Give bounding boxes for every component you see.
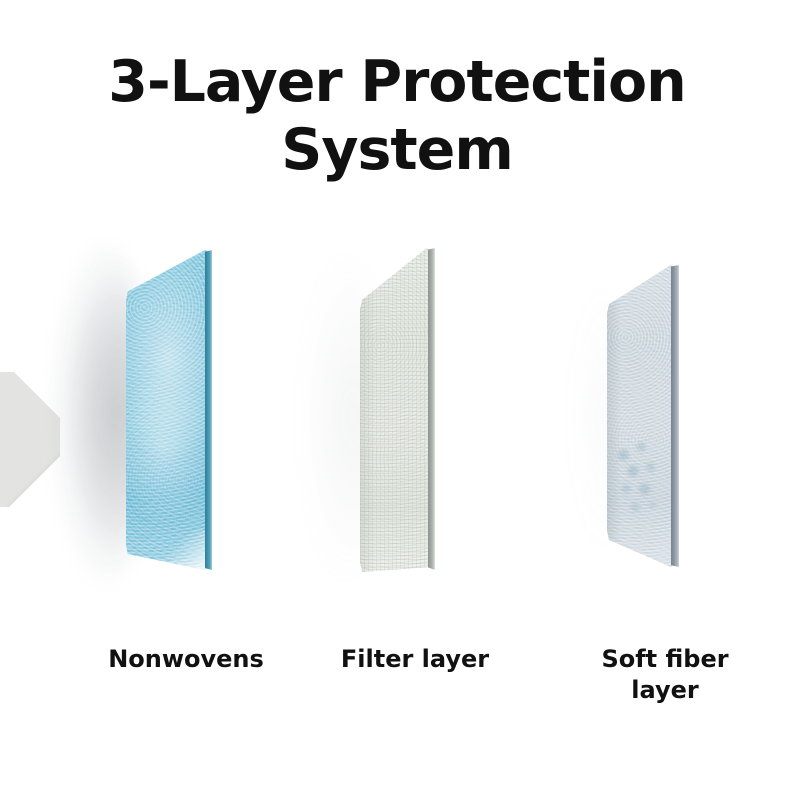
panel-shadow xyxy=(566,272,626,562)
filter-mesh-texture xyxy=(360,248,430,572)
panel-edge-soft-fiber xyxy=(671,265,679,567)
panel-edge-filter xyxy=(428,248,435,570)
infographic-canvas: 3-Layer Protection System xyxy=(0,0,794,794)
label-nonwovens-text: Nonwovens xyxy=(108,645,264,673)
label-soft-fiber-line-1: Soft fiber xyxy=(555,644,775,675)
label-soft-fiber-line-2: layer xyxy=(555,675,775,706)
panel-face-filter xyxy=(360,248,430,572)
panel-left-shade xyxy=(607,265,621,567)
title-line-1: 3-Layer Protection xyxy=(0,48,794,116)
nonwoven-texture xyxy=(126,250,210,570)
page-title: 3-Layer Protection System xyxy=(0,48,794,184)
soft-fiber-texture xyxy=(607,265,674,567)
panel-corner-highlight xyxy=(164,530,210,570)
panel-edge-nonwovens xyxy=(205,250,212,570)
panel-shadow-inner xyxy=(72,262,150,564)
panel-left-shade xyxy=(360,248,376,572)
fiber-dot-cluster xyxy=(611,437,669,537)
label-filter-layer-text: Filter layer xyxy=(341,645,489,673)
panel-face-nonwovens xyxy=(126,250,210,570)
panel-face-soft-fiber xyxy=(607,265,674,567)
germ-surface xyxy=(0,372,60,507)
panel-shadow xyxy=(300,252,386,582)
title-line-2: System xyxy=(0,116,794,184)
label-soft-fiber-layer: Soft fiber layer xyxy=(555,644,775,706)
contaminated-surface-corner xyxy=(0,372,60,507)
panel-shadow xyxy=(52,242,156,584)
label-nonwovens: Nonwovens xyxy=(66,644,306,675)
label-filter-layer: Filter layer xyxy=(305,644,525,675)
